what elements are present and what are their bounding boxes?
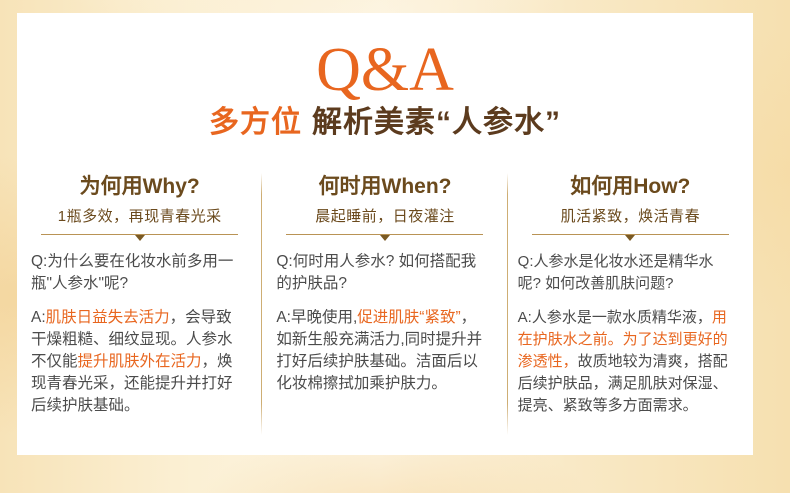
answer-highlight-run: 促进肌肤“紧致” [357,309,460,326]
title-block: Q&A 多方位解析美素“人参水” [17,13,753,140]
column-heading: 为何用Why? [31,161,248,199]
qa-column-when: 何时用When? 晨起睡前，日夜灌注 Q:何时用人参水? 如何搭配我的护肤品? … [262,161,507,455]
answer-highlight-run: 肌肤日益失去活力 [46,309,170,326]
heading-divider-rule [41,234,238,235]
caret-down-icon [135,235,145,241]
page-title: Q&A [17,13,753,101]
column-subheading: 肌活紧致，焕活青春 [522,199,739,227]
heading-divider-rule [286,234,483,235]
caret-down-icon [625,235,635,241]
answer-text: A:早晚使用,促进肌肤“紧致”，如新生般充满活力,同时提升并打好后续护肤基础。洁… [276,307,486,395]
answer-plain-run: A:早晚使用, [276,309,357,326]
answer-text: A:人参水是一款水质精华液，用在护肤水之前。为了达到更好的渗透性，故质地较为清爽… [518,307,736,417]
column-subheading: 晨起睡前，日夜灌注 [276,199,493,227]
answer-text: A:肌肤日益失去活力，会导致干燥粗糙、细纹显现。人参水不仅能提升肌肤外在活力，焕… [31,307,236,417]
subtitle-rest: 解析美素“人参水” [312,106,561,139]
answer-plain-run: A:人参水是一款水质精华液， [518,309,712,326]
promo-poster: Q&A 多方位解析美素“人参水” 为何用Why? 1瓶多效，再现青春光采 Q:为… [0,0,790,493]
qa-column-why: 为何用Why? 1瓶多效，再现青春光采 Q:为什么要在化妆水前多用一瓶"人参水"… [17,161,262,455]
qa-column-how: 如何用How? 肌活紧致，焕活青春 Q:人参水是化妆水还是精华水呢? 如何改善肌… [508,161,753,455]
subtitle-highlight: 多方位 [209,106,302,139]
question-text: Q:人参水是化妆水还是精华水呢? 如何改善肌肤问题? [518,251,736,295]
answer-highlight-run: 提升肌肤外在活力 [78,353,202,370]
heading-divider-rule [532,234,729,235]
page-subtitle: 多方位解析美素“人参水” [17,106,753,140]
column-heading: 何时用When? [276,161,493,199]
question-text: Q:为什么要在化妆水前多用一瓶"人参水"呢? [31,251,236,295]
content-card: Q&A 多方位解析美素“人参水” 为何用Why? 1瓶多效，再现青春光采 Q:为… [17,13,753,455]
column-heading: 如何用How? [522,161,739,199]
caret-down-icon [380,235,390,241]
question-text: Q:何时用人参水? 如何搭配我的护肤品? [276,251,486,295]
qa-columns: 为何用Why? 1瓶多效，再现青春光采 Q:为什么要在化妆水前多用一瓶"人参水"… [17,161,753,455]
column-subheading: 1瓶多效，再现青春光采 [31,199,248,227]
answer-plain-run: A: [31,309,46,326]
